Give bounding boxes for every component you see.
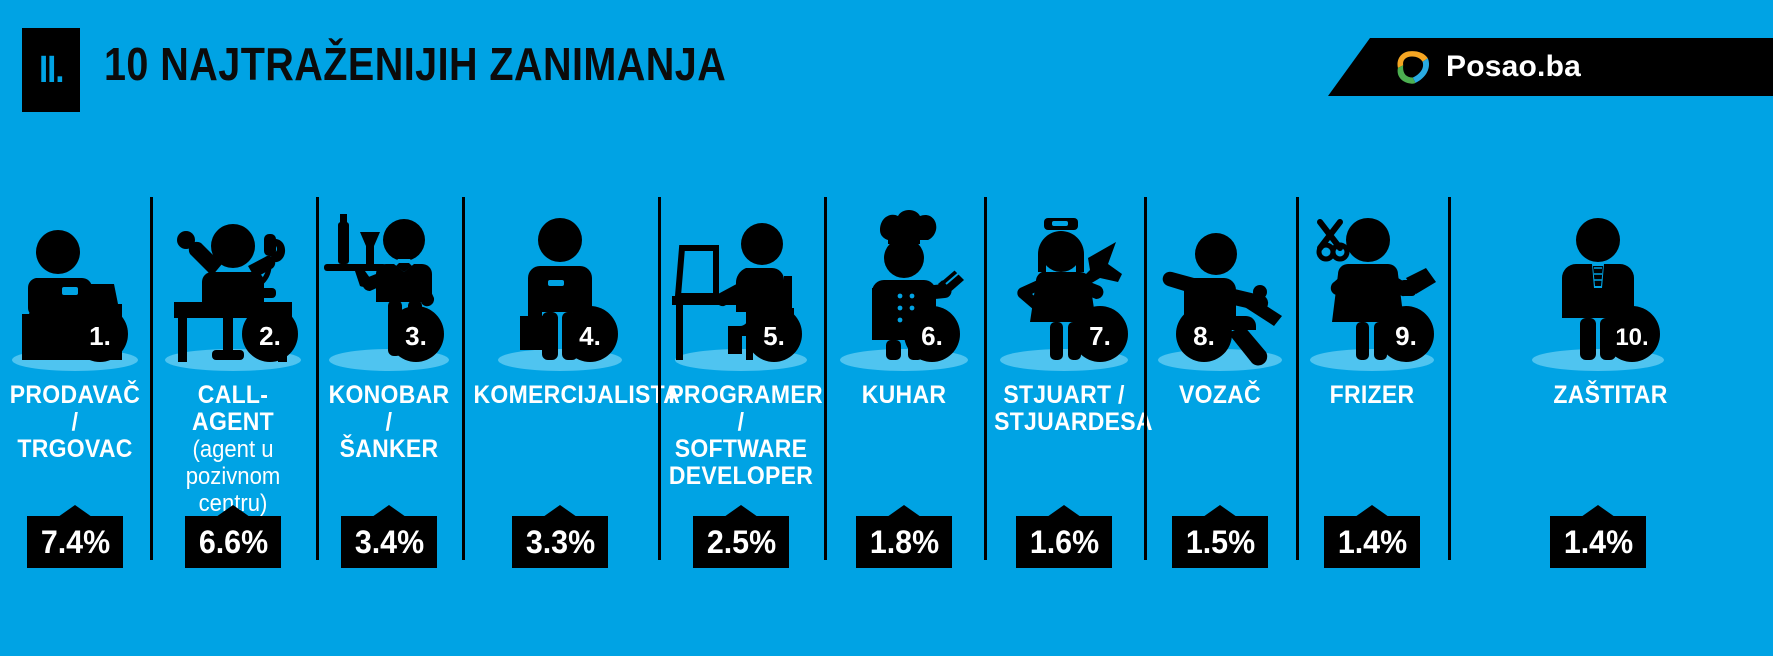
percentage-badge-1: 7.4% (27, 516, 123, 568)
badge-tab-icon (1203, 505, 1237, 517)
label-line: VOZAČ (1154, 382, 1286, 409)
label-line: PROGRAMER / (668, 382, 813, 436)
percentage-badge-6: 1.8% (856, 516, 952, 568)
occupation-label-4: KOMERCIJALISTA (470, 382, 650, 409)
percentage-badge-4: 3.3% (512, 516, 608, 568)
occupations-row: 1. PRODAVAČ / TRGOVAC (0, 150, 1773, 550)
occupation-label-9: FRIZER (1302, 382, 1442, 409)
percentage-value-2: 6.6% (198, 524, 267, 561)
rank-number-5: 5. (763, 321, 785, 351)
rank-number-1: 1. (89, 321, 111, 351)
occupation-column-9[interactable]: 9. FRIZER (1296, 150, 1448, 550)
badge-tab-icon (216, 505, 250, 517)
occupation-illustration-9: 9. (1296, 192, 1448, 382)
percentage-cell-2: 6.6% (150, 508, 316, 568)
sublabel-line: (agent u (157, 436, 310, 463)
occupation-column-10[interactable]: 10. ZAŠTITAR (1448, 150, 1773, 550)
occupation-label-6: KUHAR (830, 382, 977, 409)
label-line: ŠANKER (326, 436, 453, 463)
occupation-column-3[interactable]: 3. KONOBAR / ŠANKER (316, 150, 462, 550)
percentage-cell-7: 1.6% (984, 508, 1144, 568)
percentage-row: 7.4% 6.6% 3.4% 3.3% 2.5% 1.8% (0, 508, 1773, 568)
label-line: DEVELOPER (668, 463, 813, 490)
badge-tab-icon (58, 505, 92, 517)
occupation-illustration-10: 10. (1448, 192, 1773, 382)
header: II. 10 NAJTRAŽENIJIH ZANIMANJA Posao.ba (0, 0, 1773, 150)
label-line: CALL-AGENT (160, 382, 305, 436)
percentage-cell-6: 1.8% (824, 508, 984, 568)
rank-number-10: 10. (1615, 324, 1648, 351)
occupation-column-8[interactable]: 8. VOZAČ (1144, 150, 1296, 550)
percentage-badge-5: 2.5% (693, 516, 789, 568)
label-line: KONOBAR / (326, 382, 453, 436)
percentage-badge-8: 1.5% (1172, 516, 1268, 568)
rank-number-9: 9. (1395, 321, 1417, 351)
occupation-label-10: ZAŠTITAR (1461, 382, 1760, 409)
percentage-value-9: 1.4% (1337, 524, 1406, 561)
percentage-badge-10: 1.4% (1550, 516, 1646, 568)
label-line: ZAŠTITAR (1465, 382, 1757, 409)
rank-number-6: 6. (921, 321, 943, 351)
percentage-value-7: 1.6% (1029, 524, 1098, 561)
occupation-label-8: VOZAČ (1150, 382, 1290, 409)
badge-tab-icon (1047, 505, 1081, 517)
percentage-cell-8: 1.5% (1144, 508, 1296, 568)
occupation-illustration-3: 3. (316, 192, 462, 382)
occupation-illustration-2: 2. (150, 192, 316, 382)
rank-number-8: 8. (1193, 321, 1215, 351)
occupation-column-2[interactable]: 2. CALL-AGENT (agent u pozivnom centru) (150, 150, 316, 550)
percentage-badge-3: 3.4% (341, 516, 437, 568)
percentage-cell-9: 1.4% (1296, 508, 1448, 568)
percentage-value-3: 3.4% (354, 524, 423, 561)
section-number-badge: II. (22, 28, 80, 112)
occupation-label-7: STJUART / STJUARDESA (990, 382, 1137, 436)
label-line: KOMERCIJALISTA (474, 382, 647, 409)
label-line: PRODAVAČ / (10, 382, 141, 436)
rank-number-3: 3. (405, 321, 427, 351)
percentage-value-8: 1.5% (1185, 524, 1254, 561)
percentage-value-10: 1.4% (1563, 524, 1632, 561)
percentage-cell-3: 3.4% (316, 508, 462, 568)
percentage-value-4: 3.3% (525, 524, 594, 561)
percentage-cell-10: 1.4% (1448, 508, 1773, 568)
occupation-illustration-8: 8. (1144, 192, 1296, 382)
label-line: STJUART / (994, 382, 1134, 409)
occupation-column-6[interactable]: 6. KUHAR (824, 150, 984, 550)
badge-tab-icon (887, 505, 921, 517)
occupation-illustration-4: 4. (462, 192, 658, 382)
label-line: FRIZER (1306, 382, 1438, 409)
percentage-badge-9: 1.4% (1324, 516, 1420, 568)
rank-number-4: 4. (579, 321, 601, 351)
badge-tab-icon (1581, 505, 1615, 517)
percentage-value-5: 2.5% (706, 524, 775, 561)
percentage-badge-7: 1.6% (1016, 516, 1112, 568)
occupation-column-5[interactable]: 5. PROGRAMER / SOFTWARE DEVELOPER (658, 150, 824, 550)
occupation-label-5: PROGRAMER / SOFTWARE DEVELOPER (665, 382, 818, 490)
occupation-column-1[interactable]: 1. PRODAVAČ / TRGOVAC (0, 150, 150, 550)
occupation-illustration-5: 5. (658, 192, 824, 382)
rank-number-2: 2. (259, 321, 281, 351)
label-line: KUHAR (834, 382, 974, 409)
occupation-illustration-6: 6. (824, 192, 984, 382)
page-title: 10 NAJTRAŽENIJIH ZANIMANJA (104, 37, 726, 91)
section-number-label: II. (39, 49, 63, 92)
label-line: TRGOVAC (10, 436, 141, 463)
badge-tab-icon (543, 505, 577, 517)
occupation-column-7[interactable]: 7. STJUART / STJUARDESA (984, 150, 1144, 550)
badge-tab-icon (1355, 505, 1389, 517)
badge-tab-icon (724, 505, 758, 517)
occupation-label-3: KONOBAR / ŠANKER (322, 382, 456, 463)
occupation-label-1: PRODAVAČ / TRGOVAC (6, 382, 144, 463)
occupation-illustration-1: 1. (0, 192, 150, 382)
percentage-value-1: 7.4% (40, 524, 109, 561)
percentage-badge-2: 6.6% (185, 516, 281, 568)
label-line: STJUARDESA (994, 409, 1134, 436)
percentage-value-6: 1.8% (869, 524, 938, 561)
percentage-cell-5: 2.5% (658, 508, 824, 568)
badge-tab-icon (372, 505, 406, 517)
percentage-cell-1: 7.4% (0, 508, 150, 568)
occupation-illustration-7: 7. (984, 192, 1144, 382)
percentage-cell-4: 3.3% (462, 508, 658, 568)
label-line: SOFTWARE (668, 436, 813, 463)
rank-number-7: 7. (1089, 321, 1111, 351)
occupation-column-4[interactable]: 4. KOMERCIJALISTA (462, 150, 658, 550)
logo-banner[interactable]: Posao.ba (1328, 38, 1773, 96)
occupation-label-2: CALL-AGENT (157, 382, 310, 436)
logo-text: Posao.ba (1446, 50, 1581, 84)
posao-logo-icon (1390, 45, 1434, 89)
